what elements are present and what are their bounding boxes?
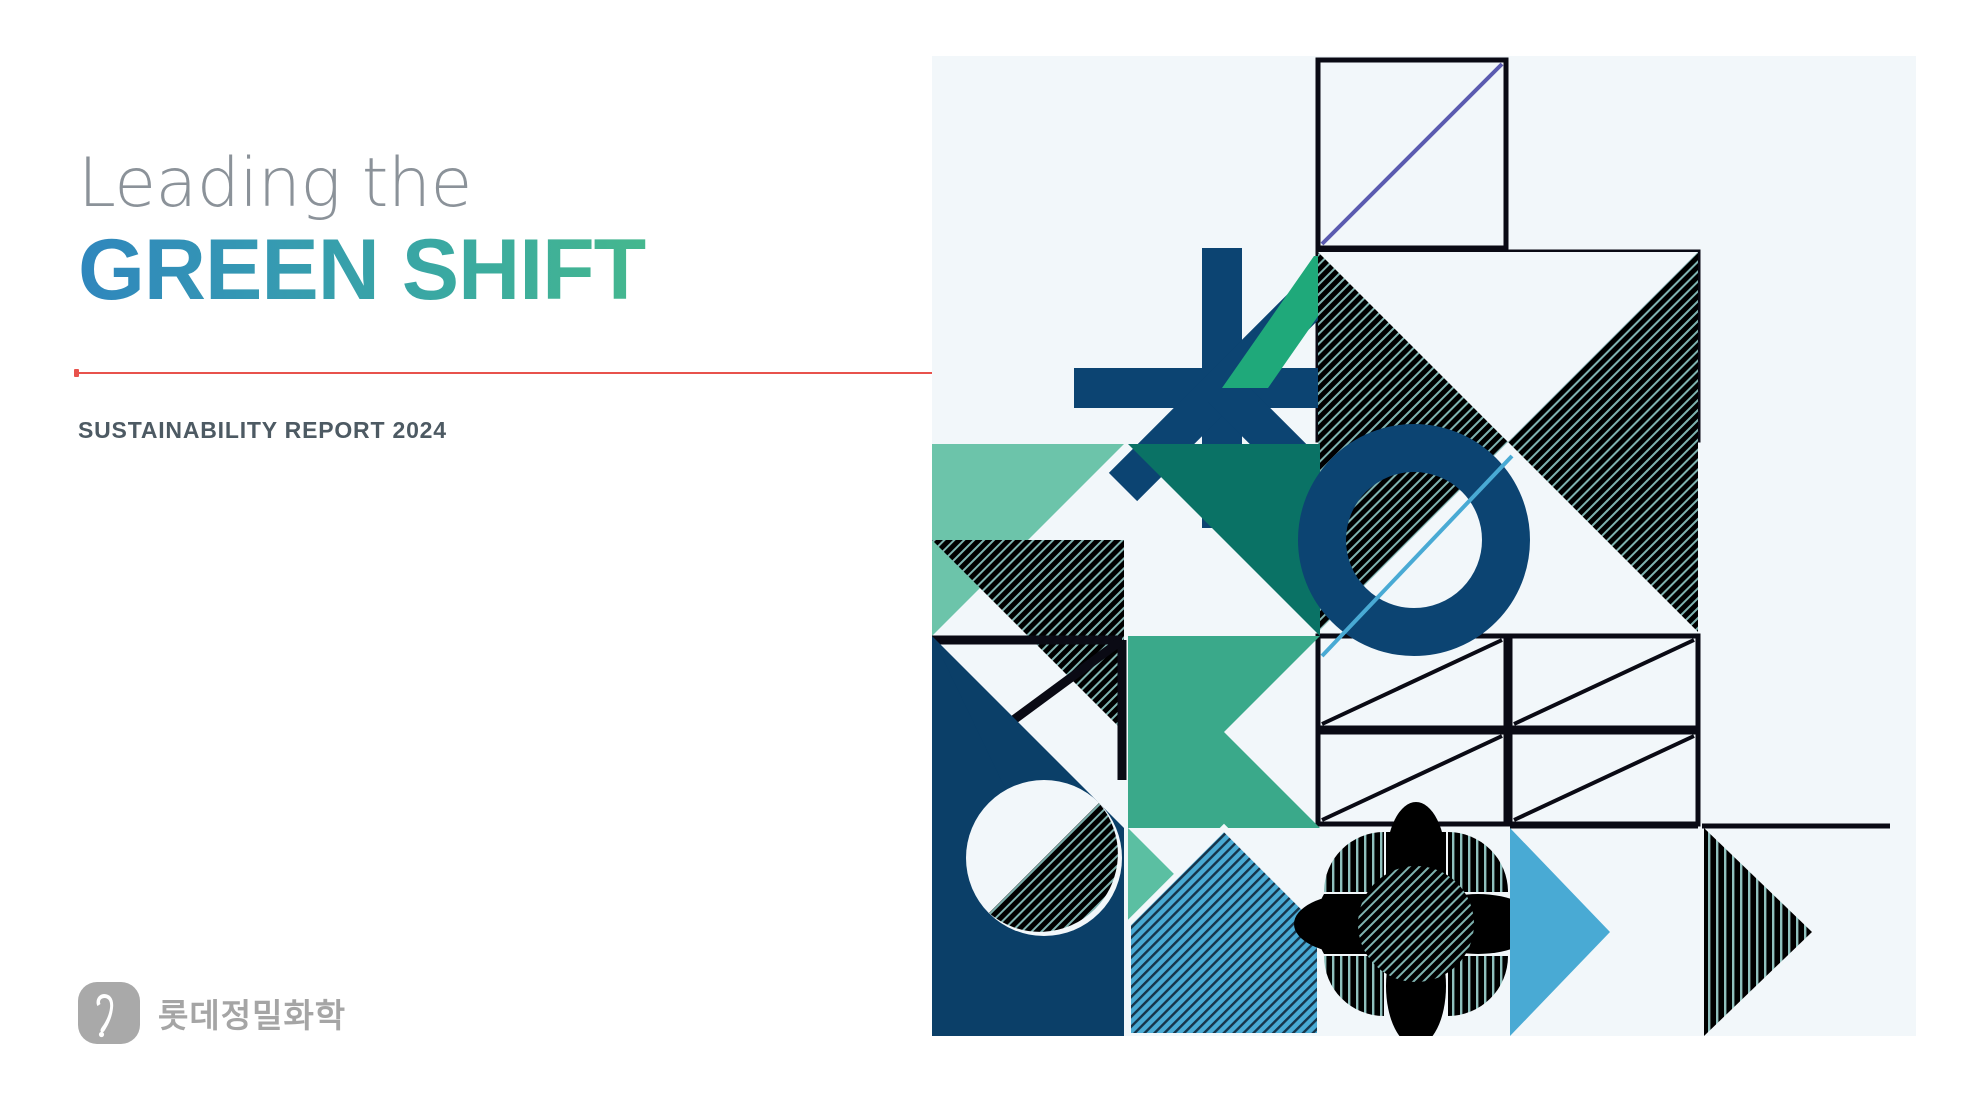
brand-logo: 롯데정밀화학 xyxy=(78,982,346,1044)
lotte-l-mark-icon xyxy=(78,982,140,1044)
report-subtitle: SUSTAINABILITY REPORT 2024 xyxy=(78,417,447,444)
geometric-pattern-panel xyxy=(932,56,1916,1036)
page-title-line1: Leading the xyxy=(78,150,898,218)
page-title-line2: GREEN SHIFT xyxy=(78,224,898,317)
report-cover: Leading the GREEN SHIFT SUSTAINABILITY R… xyxy=(0,0,1984,1114)
title-block: Leading the GREEN SHIFT xyxy=(78,150,898,317)
brand-name-label: 롯데정밀화학 xyxy=(158,989,346,1037)
